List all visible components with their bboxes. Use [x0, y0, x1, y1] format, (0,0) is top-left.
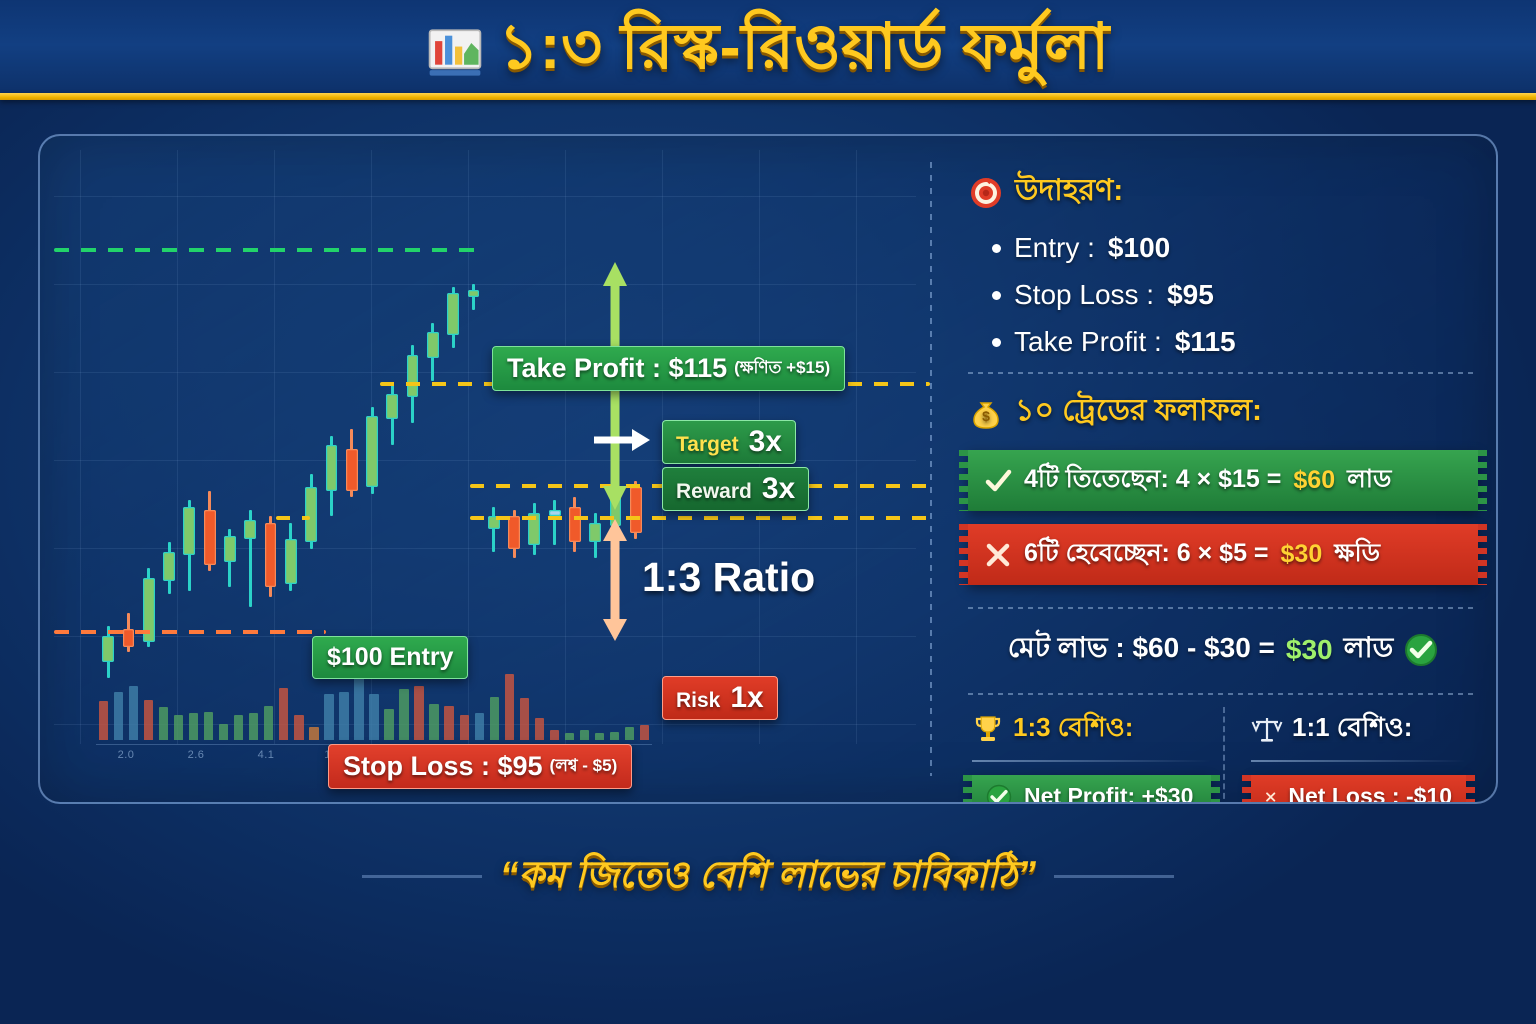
risk-badge: Risk 1x	[662, 676, 778, 720]
candle-body	[366, 416, 378, 487]
example-heading: উদাহরণ:	[968, 166, 1478, 217]
winning-trades-row: 4টি তিতেছেন: 4 × $15 = $60 লাড	[968, 450, 1478, 511]
candle-body	[447, 293, 459, 335]
candle-body	[265, 523, 277, 588]
grid-line-horizontal	[54, 284, 916, 285]
net-profit-suffix: লাড	[1344, 626, 1394, 673]
candle-body	[346, 449, 358, 491]
green-check-circle-icon	[1404, 633, 1438, 667]
section-divider	[968, 693, 1478, 695]
net-profit-amount: $30	[1286, 634, 1333, 666]
volume-bar	[565, 733, 574, 741]
entry-level-line-right	[470, 516, 930, 520]
compare-right-rule	[1251, 760, 1466, 762]
compare-right-heading: 1:1 বেশিও:	[1251, 707, 1466, 751]
balance-scale-icon	[1251, 713, 1283, 745]
grid-line-vertical	[856, 150, 857, 744]
footer-quote: “কম জিতেও বেশি লাভের চাবিকাঠি”	[0, 845, 1536, 908]
x-axis-tick: 2.6	[188, 749, 205, 761]
entry-label: $100 Entry	[312, 636, 468, 679]
volume-bar	[399, 689, 408, 740]
compare-right-heading-text: 1:1 বেশিও:	[1292, 707, 1412, 751]
example-entry-value: $100	[1108, 232, 1170, 264]
cross-icon	[984, 541, 1012, 569]
green-check-circle-icon	[986, 784, 1012, 805]
compare-left-heading: 1:3 বেশিও:	[972, 707, 1211, 751]
results-heading-text: ১০ ট্রেডের ফলাফল:	[1015, 386, 1262, 437]
target-badge: Target 3x	[662, 420, 796, 464]
net-loss-badge: Net Loss : -$10	[1251, 775, 1466, 804]
volume-bar	[204, 712, 213, 741]
example-item-stop-loss: Stop Loss : $95	[992, 279, 1478, 311]
volume-bar	[444, 706, 453, 741]
target-badge-value: 3x	[749, 425, 782, 459]
grid-line-horizontal	[54, 636, 916, 637]
example-heading-text: উদাহরণ:	[1015, 166, 1123, 217]
winning-trades-text: 4টি তিতেছেন: 4 × $15 =	[1024, 459, 1281, 502]
volume-bar	[114, 692, 123, 740]
volume-bar	[174, 715, 183, 741]
take-profit-sub-text: (ক্ষণিত +$15)	[734, 355, 830, 383]
risk-badge-value: 1x	[730, 681, 763, 715]
stop-loss-level-line	[54, 630, 326, 634]
example-take-profit-label: Take Profit :	[1014, 326, 1162, 358]
reward-badge: Reward 3x	[662, 467, 809, 511]
grid-line-vertical	[80, 150, 81, 744]
footer-rule-left	[362, 875, 482, 878]
volume-bar	[144, 700, 153, 741]
take-profit-label: Take Profit : $115 (ক্ষণিত +$15)	[492, 346, 845, 391]
volume-bar	[535, 718, 544, 741]
losing-trades-text: 6টি হেবেচ্ছেন: 6 × $5 =	[1024, 533, 1269, 576]
candle-body	[224, 536, 236, 562]
losing-trades-suffix: ক্ষডি	[1334, 533, 1380, 576]
candle-body	[102, 636, 114, 662]
check-icon	[984, 467, 1012, 495]
stop-loss-sub-text: (লশ্ব - $5)	[550, 753, 618, 781]
bar-chart-icon	[426, 23, 484, 81]
ratio-pointer-arrow	[592, 426, 652, 454]
svg-text:$: $	[982, 408, 990, 424]
grid-line-vertical	[177, 150, 178, 744]
volume-bar	[129, 686, 138, 740]
page-header: ১:৩ রিস্ক-রিওয়ার্ড ফর্মুলা	[0, 0, 1536, 100]
volume-bar	[625, 727, 634, 740]
compare-left-rule	[972, 760, 1211, 762]
volume-bar	[189, 713, 198, 740]
volume-bar	[460, 715, 469, 741]
reward-badge-value: 3x	[762, 472, 795, 506]
bullet-dot-icon	[992, 338, 1001, 347]
volume-bar	[219, 724, 228, 741]
ratio-text: 1:3 Ratio	[642, 554, 815, 601]
volume-bar	[580, 730, 589, 741]
page-title: ১:৩ রিস্ক-রিওয়ার্ড ফর্মুলা	[498, 0, 1109, 103]
volume-bar	[384, 709, 393, 741]
example-stop-loss-label: Stop Loss :	[1014, 279, 1154, 311]
volume-bar	[159, 707, 168, 740]
volume-bar	[294, 715, 303, 740]
volume-bar	[324, 694, 333, 741]
candle-body	[508, 516, 520, 548]
take-profit-level-line	[54, 248, 486, 252]
example-item-entry: Entry : $100	[992, 232, 1478, 264]
volume-bar	[505, 674, 514, 740]
bullet-dot-icon	[992, 291, 1001, 300]
target-icon	[968, 174, 1004, 210]
volume-bar	[414, 686, 423, 740]
candle-body	[407, 355, 419, 397]
candle-body	[183, 507, 195, 555]
footer-rule-right	[1054, 875, 1174, 878]
entry-level-line-left	[276, 516, 310, 520]
target-badge-label: Target	[676, 433, 739, 457]
net-profit-text: মেট লাভ : $60 - $30 =	[1008, 626, 1275, 673]
candle-wick	[492, 507, 495, 552]
candlestick-chart: 2.02.64.112.14.22.02.42.0 Take Profit :	[40, 136, 930, 802]
losing-trades-amount: $30	[1281, 540, 1323, 569]
ratio-comparison: 1:3 বেশিও: Net Profit: +$30	[968, 707, 1478, 804]
stop-loss-label: Stop Loss : $95 (লশ্ব - $5)	[328, 744, 632, 789]
candle-body	[244, 520, 256, 539]
net-profit-row: মেট লাভ : $60 - $30 = $30 লাড	[968, 626, 1478, 673]
volume-bar	[354, 676, 363, 741]
compare-left-heading-text: 1:3 বেশিও:	[1013, 707, 1133, 751]
results-heading: $ ১০ ট্রেডের ফলাফল:	[968, 386, 1478, 437]
panel-divider	[930, 162, 932, 776]
take-profit-main-text: Take Profit : $115	[507, 353, 727, 384]
volume-bar	[610, 732, 619, 740]
section-divider	[968, 372, 1478, 374]
x-axis-tick: 2.0	[118, 749, 135, 761]
candle-body	[163, 552, 175, 581]
volume-bar	[490, 697, 499, 741]
example-stop-loss-value: $95	[1167, 279, 1214, 311]
volume-bar	[429, 704, 438, 740]
volume-bar	[369, 694, 378, 741]
volume-bar	[640, 725, 649, 740]
entry-text: $100 Entry	[327, 643, 453, 672]
volume-bar	[234, 715, 243, 741]
candle-body	[386, 394, 398, 420]
volume-bar	[264, 706, 273, 741]
volume-bar	[279, 688, 288, 741]
net-loss-badge-text: Net Loss : -$10	[1288, 783, 1452, 804]
footer-quote-text: “কম জিতেও বেশি লাভের চাবিকাঠি”	[500, 845, 1036, 908]
volume-bar	[309, 727, 318, 741]
risk-arrow	[596, 518, 634, 642]
money-bag-icon: $	[968, 394, 1004, 430]
candle-body	[569, 507, 581, 543]
trophy-icon	[972, 713, 1004, 745]
net-profit-badge: Net Profit: +$30	[972, 775, 1211, 804]
main-panel: 2.02.64.112.14.22.02.42.0 Take Profit :	[38, 134, 1498, 804]
volume-bar	[550, 730, 559, 741]
grid-line-vertical	[274, 150, 275, 744]
volume-bar	[339, 692, 348, 740]
candle-body	[468, 290, 480, 296]
volume-bar	[99, 701, 108, 740]
volume-bar	[249, 713, 258, 740]
candle-body	[427, 332, 439, 358]
bullet-dot-icon	[992, 244, 1001, 253]
candle-body	[285, 539, 297, 584]
volume-bar	[520, 698, 529, 740]
example-entry-label: Entry :	[1014, 232, 1095, 264]
compare-left-column: 1:3 বেশিও: Net Profit: +$30	[968, 707, 1223, 804]
candle-body	[305, 487, 317, 542]
example-item-take-profit: Take Profit : $115	[992, 326, 1478, 358]
volume-series	[96, 670, 652, 740]
winning-trades-amount: $60	[1293, 466, 1335, 495]
volume-bar	[595, 733, 604, 740]
example-take-profit-value: $115	[1175, 326, 1236, 358]
compare-right-column: 1:1 বেশিও: Net Loss : -$10	[1223, 707, 1478, 804]
losing-trades-row: 6টি হেবেচ্ছেন: 6 × $5 = $30 ক্ষডি	[968, 524, 1478, 585]
winning-trades-suffix: লাড	[1347, 459, 1391, 502]
volume-bar	[475, 713, 484, 740]
right-column: উদাহরণ: Entry : $100 Stop Loss : $95 Tak…	[940, 136, 1498, 802]
reward-badge-label: Reward	[676, 480, 752, 504]
x-axis-tick: 4.1	[258, 749, 275, 761]
section-divider	[968, 607, 1478, 609]
candle-body	[204, 510, 216, 565]
candle-wick	[472, 284, 475, 310]
net-profit-badge-text: Net Profit: +$30	[1024, 783, 1193, 804]
stop-loss-main-text: Stop Loss : $95	[343, 751, 543, 782]
grid-line-horizontal	[54, 196, 916, 197]
grid-line-vertical	[468, 150, 469, 744]
grid-line-vertical	[565, 150, 566, 744]
candle-wick	[553, 500, 556, 545]
risk-badge-label: Risk	[676, 689, 720, 713]
cross-icon	[1265, 784, 1276, 805]
candle-body	[326, 445, 338, 490]
